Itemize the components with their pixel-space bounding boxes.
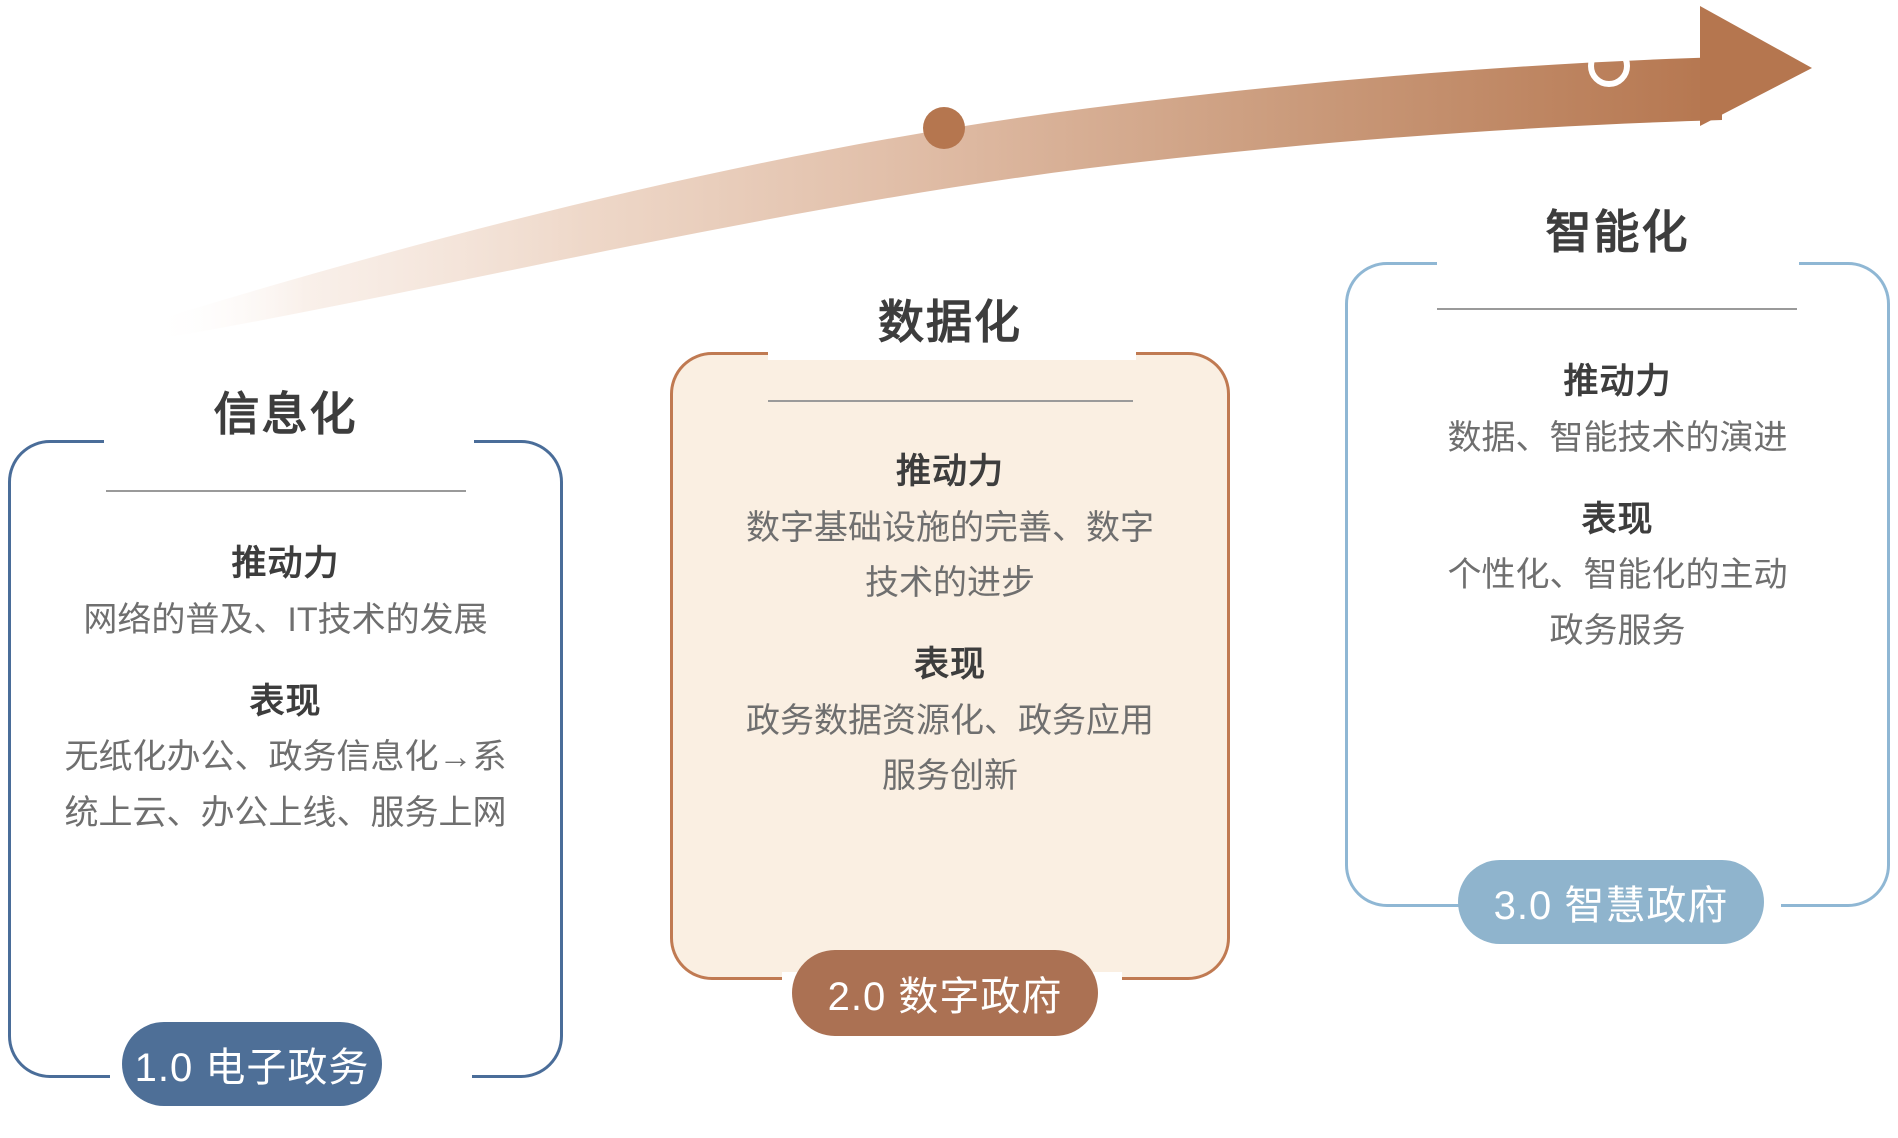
card-title-2: 数据化 xyxy=(670,286,1230,352)
section-head-driver-3: 推动力 xyxy=(1345,354,1890,411)
stage-card-3: 智能化 推动力 数据、智能技术的演进 表现 个性化、智能化的主动 政务服务 xyxy=(1345,262,1890,907)
section-head-driver-2: 推动力 xyxy=(670,444,1230,501)
section-head-manifest-1: 表现 xyxy=(8,674,563,731)
section-head-manifest-3: 表现 xyxy=(1345,492,1890,549)
stage-card-2: 数据化 推动力 数字基础设施的完善、数字 技术的进步 表现 政务数据资源化、政务… xyxy=(670,352,1230,980)
card-body-1: 推动力 网络的普及、IT技术的发展 表现 无纸化办公、政务信息化→系 统上云、办… xyxy=(8,536,563,841)
card-divider-3 xyxy=(1437,308,1797,310)
card-body-2: 推动力 数字基础设施的完善、数字 技术的进步 表现 政务数据资源化、政务应用 服… xyxy=(670,444,1230,804)
section-text-manifest-2-line-1: 服务创新 xyxy=(670,749,1230,804)
section-head-driver-1: 推动力 xyxy=(8,536,563,593)
card-title-1: 信息化 xyxy=(8,378,563,444)
spacer xyxy=(1345,466,1890,492)
section-text-driver-3-line-0: 数据、智能技术的演进 xyxy=(1345,411,1890,466)
card-divider-1 xyxy=(106,490,466,492)
arrow-head xyxy=(1700,6,1812,126)
stage-badge-1[interactable]: 1.0 电子政务 xyxy=(122,1022,382,1106)
stage-badge-3[interactable]: 3.0 智慧政府 xyxy=(1458,860,1764,944)
section-text-manifest-3-line-1: 政务服务 xyxy=(1345,604,1890,659)
section-text-manifest-3-line-0: 个性化、智能化的主动 xyxy=(1345,548,1890,603)
milestone-dot-filled xyxy=(923,107,965,149)
spacer xyxy=(670,611,1230,637)
card-title-3: 智能化 xyxy=(1345,196,1890,262)
stage-badge-2[interactable]: 2.0 数字政府 xyxy=(792,950,1098,1036)
section-text-manifest-1-line-1: 统上云、办公上线、服务上网 xyxy=(8,786,563,841)
card-divider-2 xyxy=(768,400,1133,402)
section-text-driver-2-line-0: 数字基础设施的完善、数字 xyxy=(670,501,1230,556)
milestone-dot-hollow xyxy=(1591,48,1627,84)
spacer xyxy=(8,648,563,674)
section-text-manifest-2-line-0: 政务数据资源化、政务应用 xyxy=(670,694,1230,749)
section-text-driver-2-line-1: 技术的进步 xyxy=(670,556,1230,611)
section-head-manifest-2: 表现 xyxy=(670,637,1230,694)
section-text-manifest-1-line-0: 无纸化办公、政务信息化→系 xyxy=(8,730,563,785)
section-text-driver-1-line-0: 网络的普及、IT技术的发展 xyxy=(8,593,563,648)
infographic-canvas: 信息化 推动力 网络的普及、IT技术的发展 表现 无纸化办公、政务信息化→系 统… xyxy=(0,0,1898,1138)
card-body-3: 推动力 数据、智能技术的演进 表现 个性化、智能化的主动 政务服务 xyxy=(1345,354,1890,659)
stage-card-1: 信息化 推动力 网络的普及、IT技术的发展 表现 无纸化办公、政务信息化→系 统… xyxy=(8,440,563,1078)
